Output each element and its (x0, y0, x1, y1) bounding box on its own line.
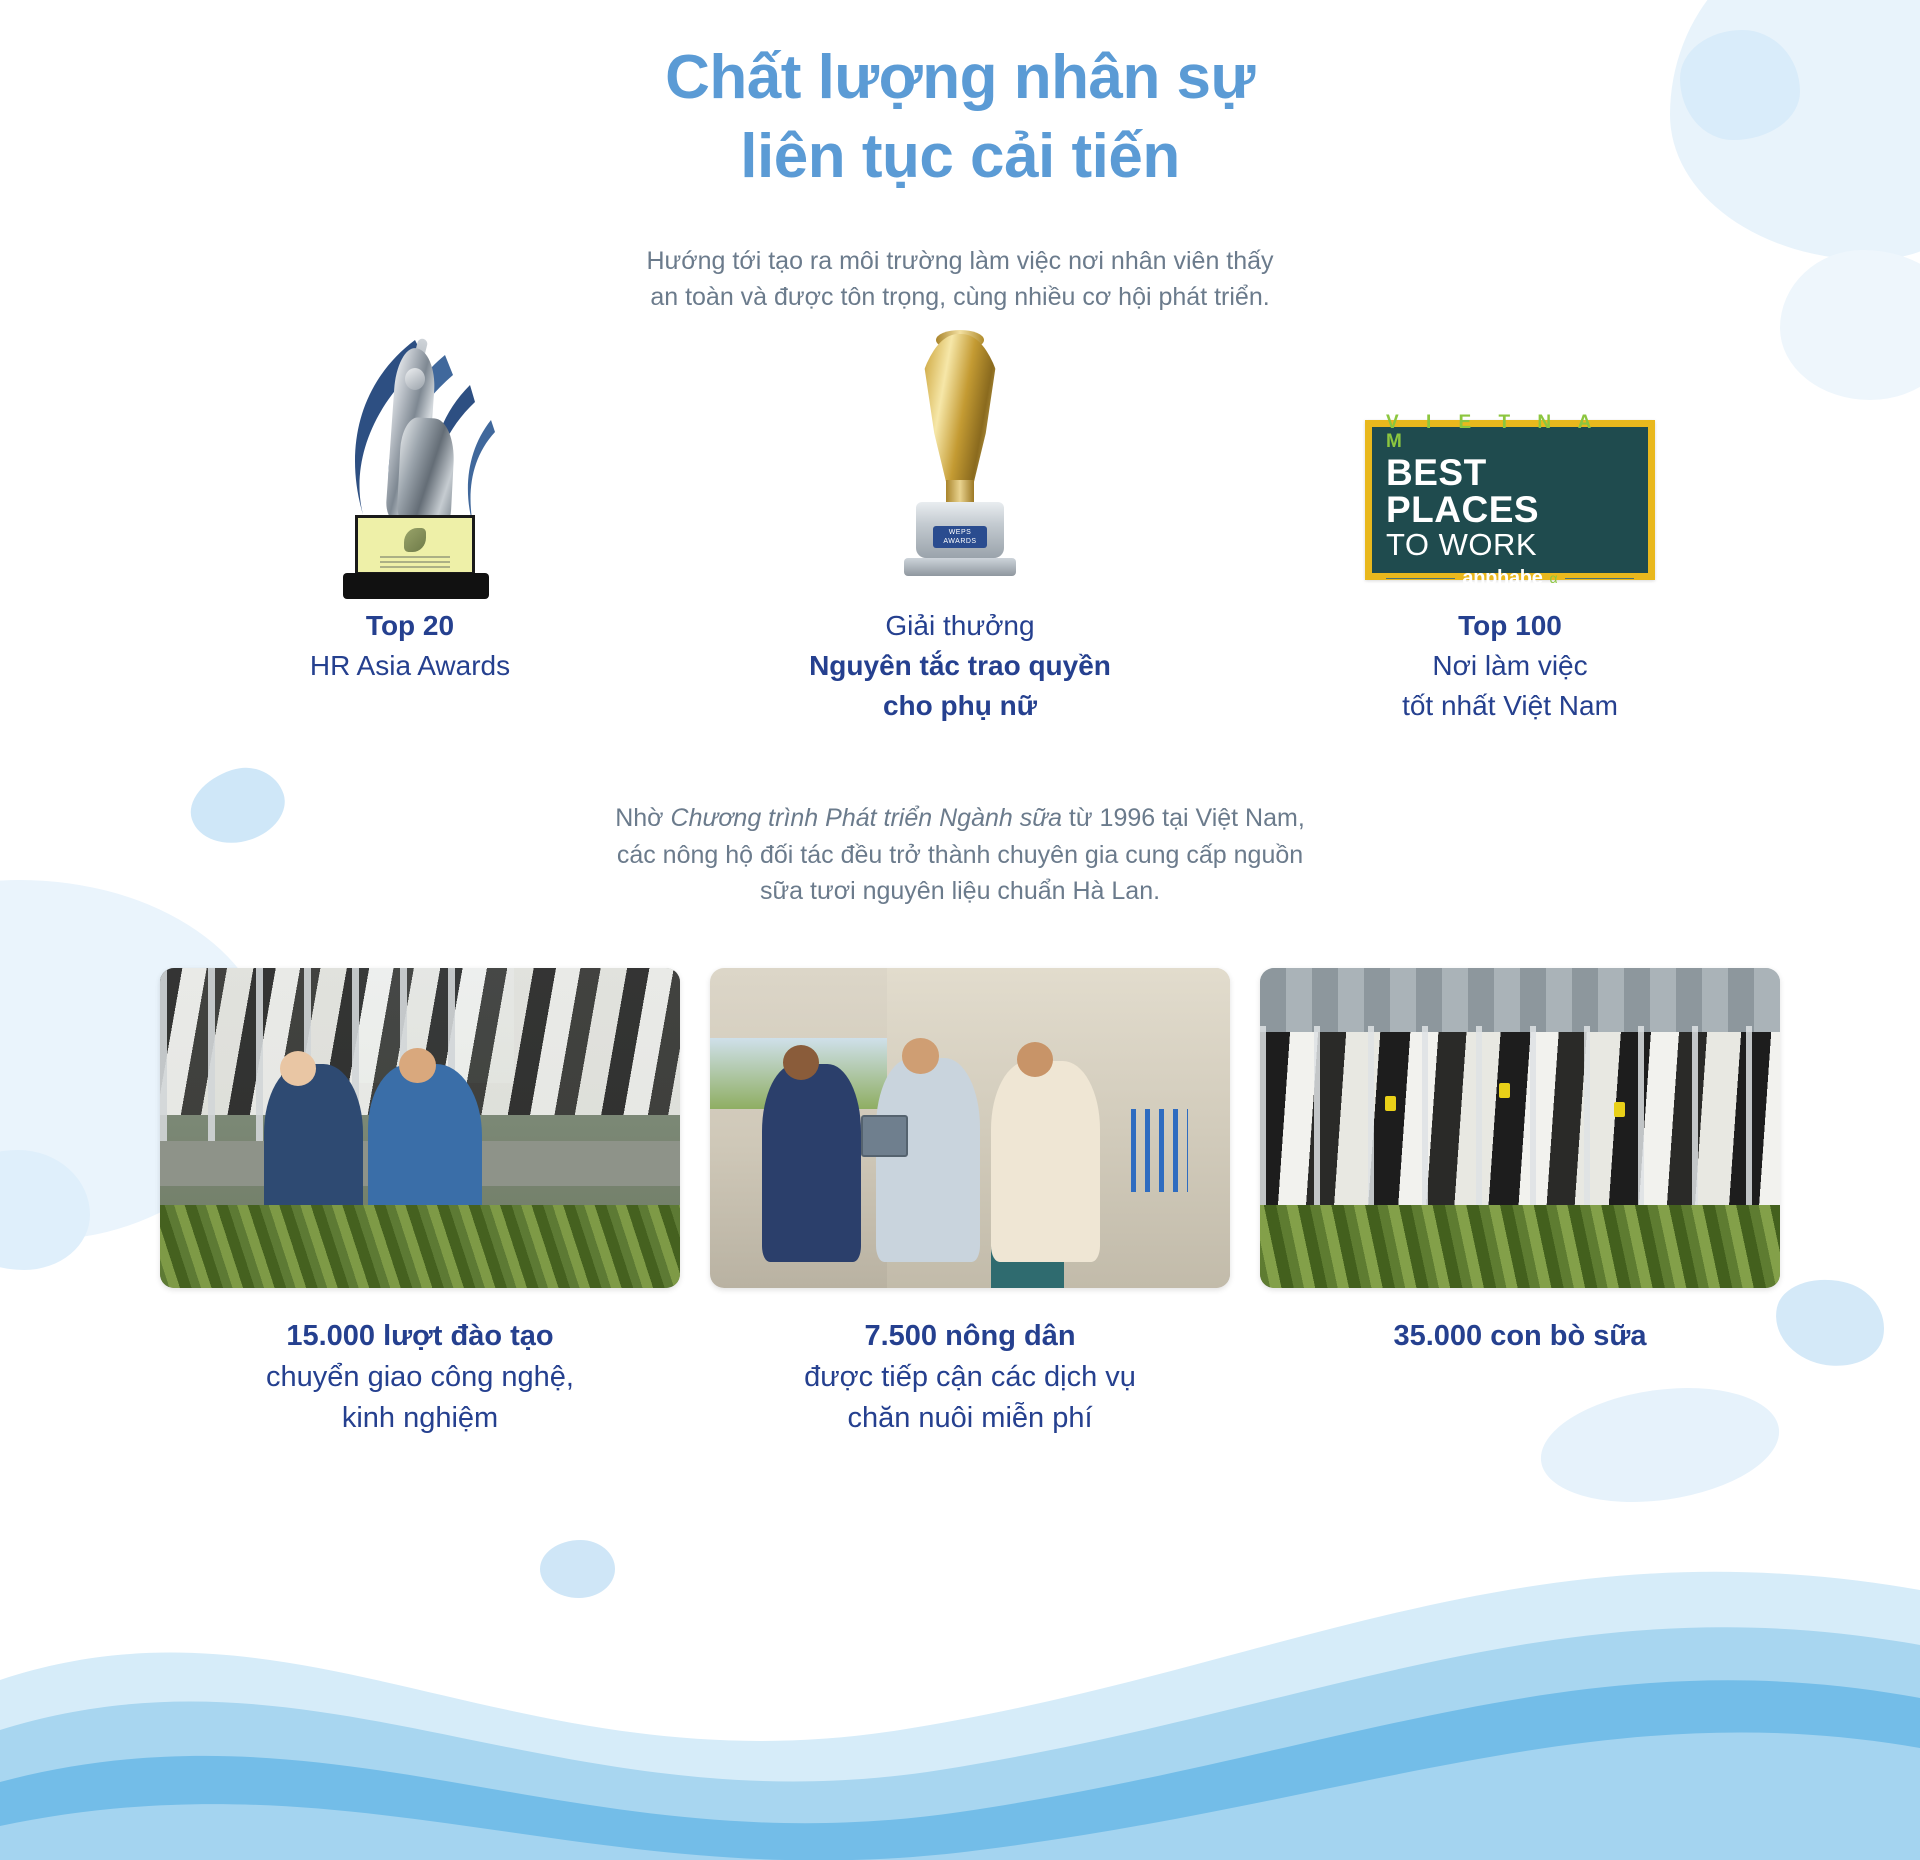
dairy-cows-feeding-in-barn-photo (1260, 968, 1780, 1288)
dairy-development-paragraph: Nhờ Chương trình Phát triển Ngành sữa từ… (0, 800, 1920, 910)
decorative-blob-right-lower (1767, 1269, 1892, 1375)
trophy-plaque (355, 515, 475, 575)
stat-item-training: 15.000 lượt đào tạo chuyển giao công ngh… (160, 968, 680, 1440)
vet-and-farmer-inspecting-feed-photo (160, 968, 680, 1288)
award-caption-2-line2: Nguyên tắc trao quyền (809, 646, 1111, 686)
page-subtitle-line-2: an toàn và được tôn trọng, cùng nhiều cơ… (0, 279, 1920, 315)
page-title-line-1: Chất lượng nhân sự (0, 38, 1920, 117)
anphabe-rule-right (1565, 578, 1634, 579)
anphabe-rule-left (1386, 578, 1455, 579)
dairy-paragraph-line-3: sữa tươi nguyên liệu chuẩn Hà Lan. (0, 873, 1920, 910)
anphabe-best-places-to-work-badge-icon: V I E T N A M BEST PLACES TO WORK anphab… (1365, 420, 1655, 580)
trophy-base-badge: WEPS AWARDS (933, 526, 987, 548)
trophy-base (343, 573, 489, 599)
award-art-1 (295, 330, 525, 580)
dairy-paragraph-program-name: Chương trình Phát triển Ngành sữa (671, 804, 1062, 832)
award-caption-1-line2: HR Asia Awards (310, 646, 510, 686)
trophy-cup-shape (914, 334, 1006, 494)
stat-line2-training: chuyển giao công nghệ, (160, 1357, 680, 1398)
plaque-engraving-lines (380, 556, 450, 571)
infographic-page: Chất lượng nhân sự liên tục cải tiến Hướ… (0, 0, 1920, 1860)
dairy-paragraph-line-1: Nhờ Chương trình Phát triển Ngành sữa từ… (0, 800, 1920, 837)
three-men-with-tablet-at-farm-photo (710, 968, 1230, 1288)
page-subtitle-line-1: Hướng tới tạo ra môi trường làm việc nơi… (0, 243, 1920, 279)
stat-caption-training: 15.000 lượt đào tạo chuyển giao công ngh… (160, 1316, 680, 1440)
trophy-base-foot (904, 558, 1016, 576)
dairy-paragraph-line-2: các nông hộ đối tác đều trở thành chuyên… (0, 837, 1920, 874)
dairy-paragraph-prefix: Nhờ (615, 804, 670, 832)
page-subtitle: Hướng tới tạo ra môi trường làm việc nơi… (0, 243, 1920, 315)
anphabe-alpha-icon: α (1550, 570, 1558, 586)
stat-item-cows: 35.000 con bò sữa (1260, 968, 1780, 1440)
awards-row: Top 20 HR Asia Awards WEPS AWARDS Giải t… (180, 330, 1740, 725)
award-caption-3: Top 100 Nơi làm việc tốt nhất Việt Nam (1402, 606, 1618, 725)
plaque-logo-mark-icon (404, 528, 426, 552)
statue-robe-shape (396, 417, 456, 530)
anphabe-brand-row: anphabe α (1386, 567, 1634, 590)
stats-row: 15.000 lượt đào tạo chuyển giao công ngh… (160, 968, 1780, 1440)
anphabe-best-places-label: BEST PLACES (1386, 454, 1634, 529)
award-caption-3-top: Top 100 (1402, 606, 1618, 646)
award-caption-2: Giải thưởng Nguyên tắc trao quyền cho ph… (809, 606, 1111, 725)
stat-line2-farmers: được tiếp cận các dịch vụ (710, 1357, 1230, 1398)
anphabe-to-work-label: TO WORK (1386, 529, 1634, 562)
award-caption-2-top: Giải thưởng (809, 606, 1111, 646)
hr-asia-awards-trophy-icon (295, 330, 525, 580)
award-item-hr-asia: Top 20 HR Asia Awards (180, 330, 640, 686)
stat-headline-training: 15.000 lượt đào tạo (160, 1316, 680, 1357)
award-caption-3-line3: tốt nhất Việt Nam (1402, 686, 1618, 726)
stat-caption-farmers: 7.500 nông dân được tiếp cận các dịch vụ… (710, 1316, 1230, 1440)
stat-caption-cows: 35.000 con bò sữa (1260, 1316, 1780, 1357)
weps-gold-trophy-icon: WEPS AWARDS (880, 330, 1040, 580)
anphabe-badge-panel: V I E T N A M BEST PLACES TO WORK anphab… (1372, 427, 1648, 573)
stat-headline-farmers: 7.500 nông dân (710, 1316, 1230, 1357)
bottom-wave-decoration (0, 1430, 1920, 1860)
stat-item-farmers: 7.500 nông dân được tiếp cận các dịch vụ… (710, 968, 1230, 1440)
award-item-anphabe: V I E T N A M BEST PLACES TO WORK anphab… (1280, 330, 1740, 725)
award-art-3: V I E T N A M BEST PLACES TO WORK anphab… (1365, 330, 1655, 580)
award-caption-3-line2: Nơi làm việc (1402, 646, 1618, 686)
award-art-2: WEPS AWARDS (880, 330, 1040, 580)
award-caption-2-line3: cho phụ nữ (809, 686, 1111, 726)
stat-headline-cows: 35.000 con bò sữa (1260, 1316, 1780, 1357)
award-caption-1-top: Top 20 (310, 606, 510, 646)
decorative-blob-left-lower (0, 1150, 90, 1270)
page-title-line-2: liên tục cải tiến (0, 117, 1920, 196)
anphabe-vietnam-label: V I E T N A M (1386, 413, 1634, 451)
anphabe-brand-label: anphabe (1462, 567, 1542, 590)
award-caption-1: Top 20 HR Asia Awards (310, 606, 510, 686)
award-item-weps: WEPS AWARDS Giải thưởng Nguyên tắc trao … (730, 330, 1190, 725)
page-title: Chất lượng nhân sự liên tục cải tiến (0, 38, 1920, 197)
dairy-paragraph-suffix: từ 1996 tại Việt Nam, (1062, 804, 1305, 832)
statue-head-shape (405, 368, 425, 390)
